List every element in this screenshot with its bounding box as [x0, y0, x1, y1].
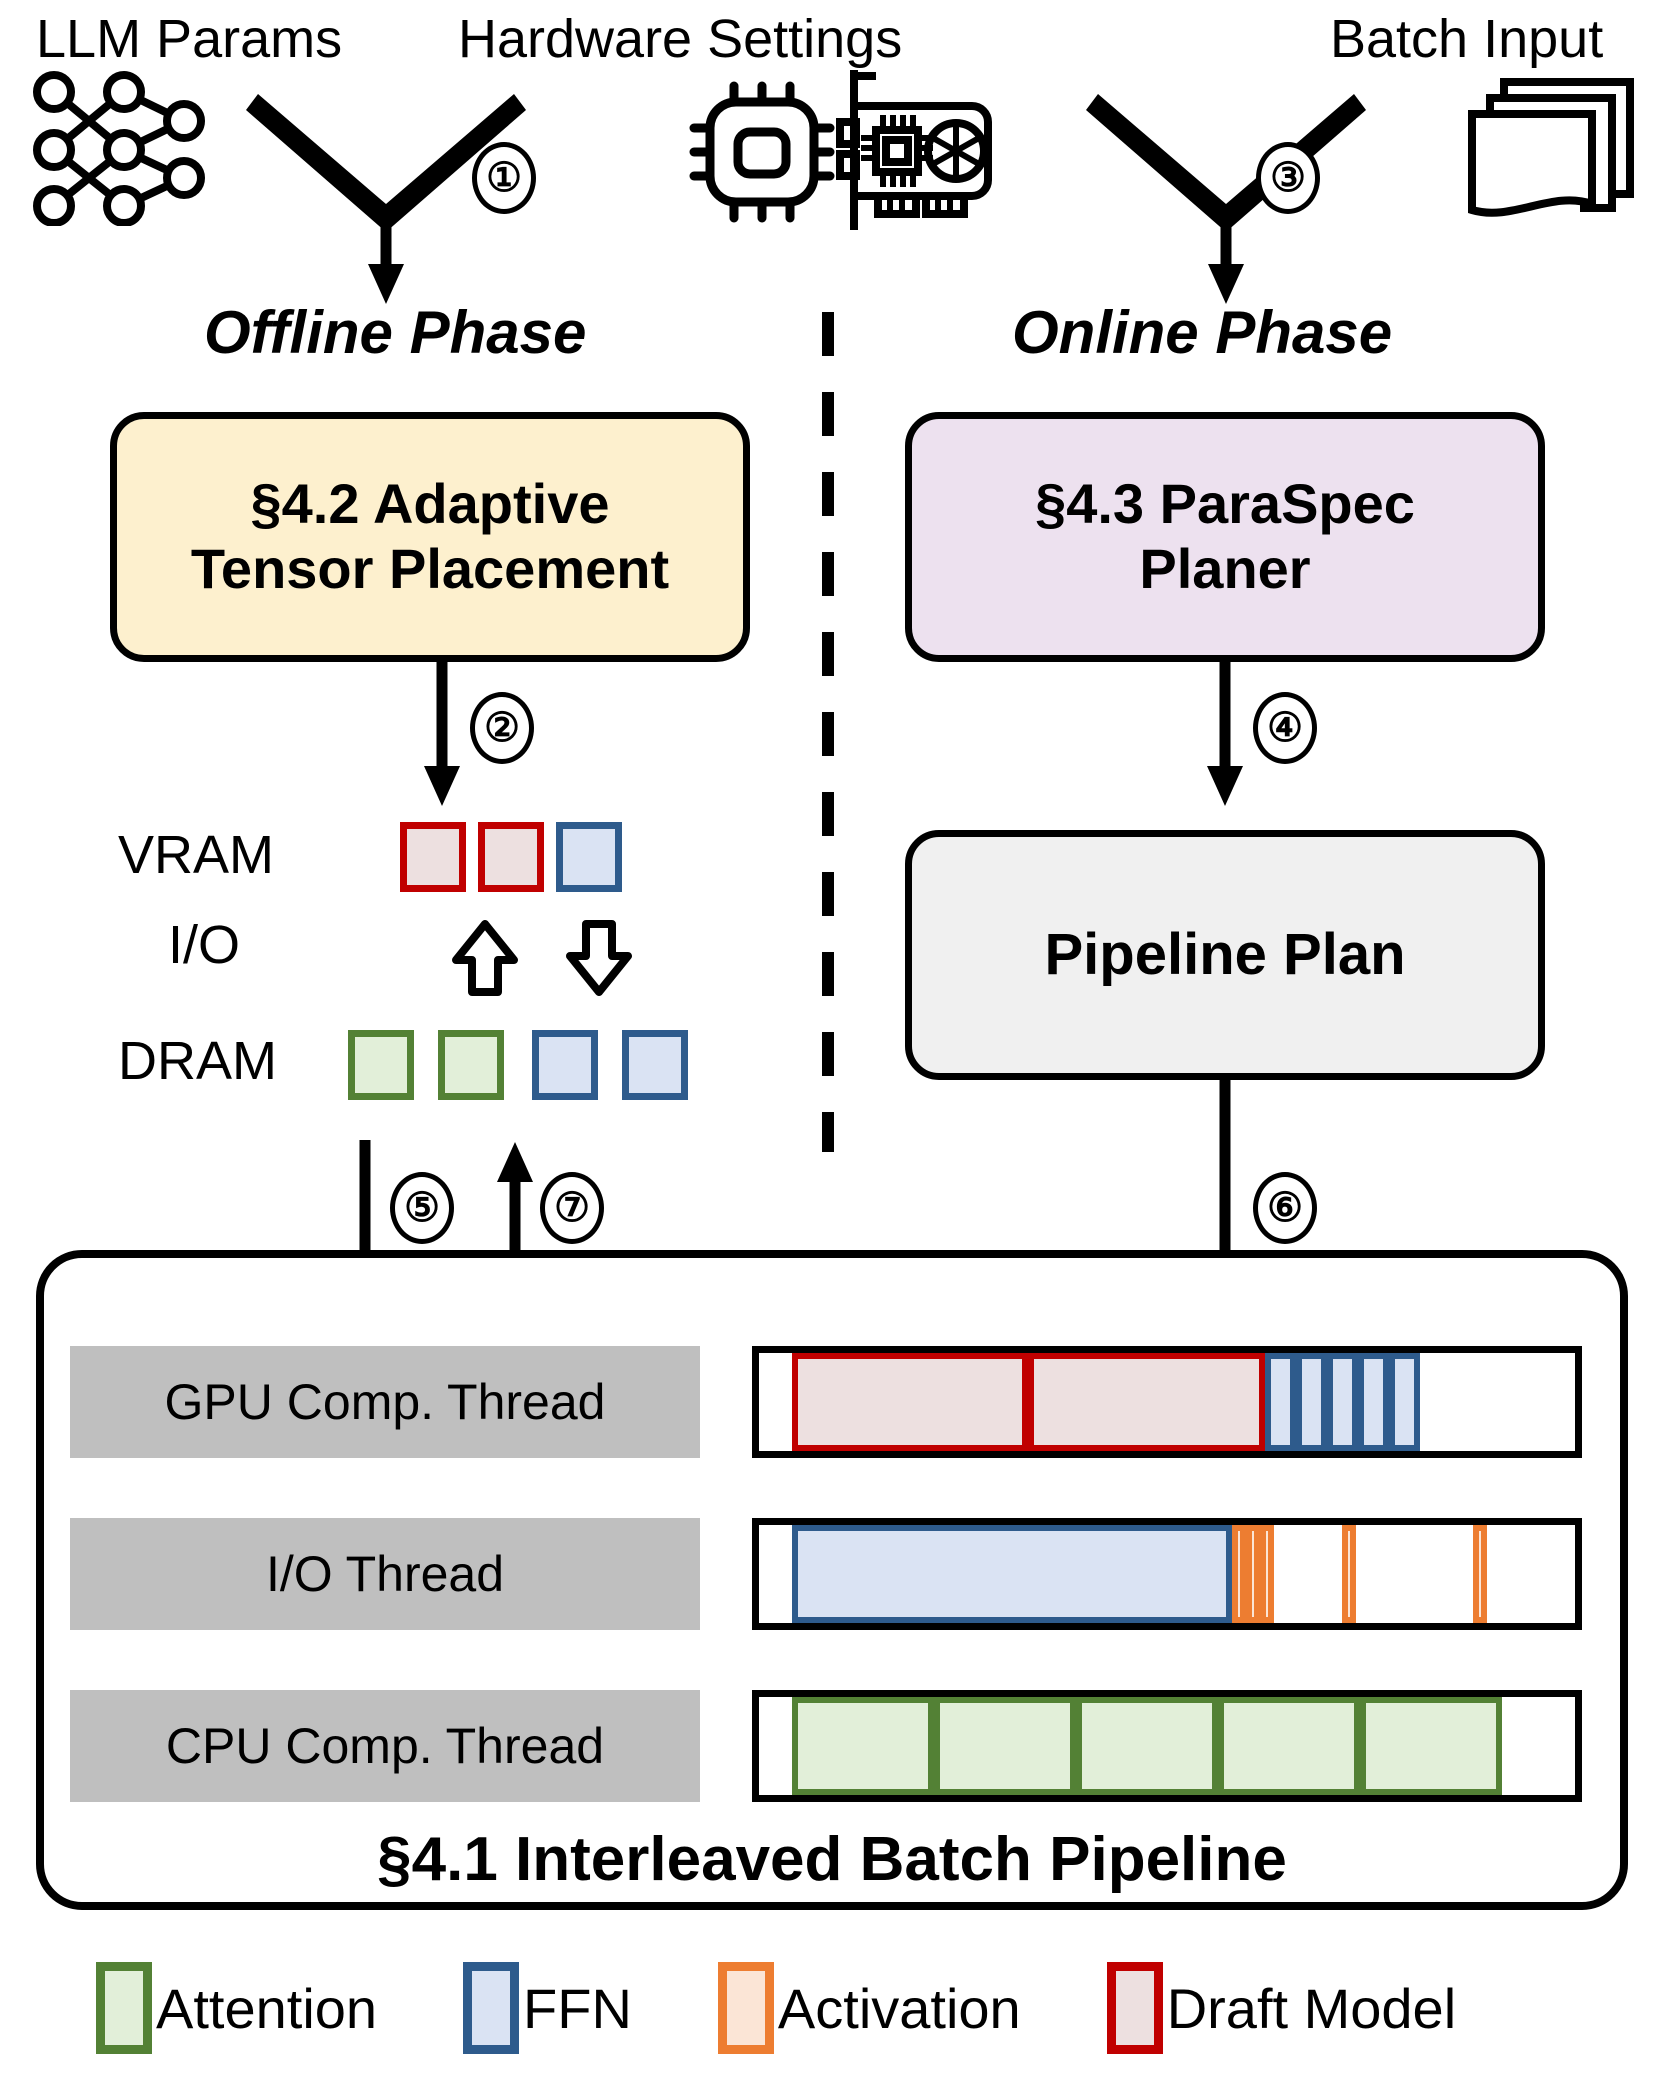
- thread-track-io: [752, 1518, 1582, 1630]
- module-pipeline-plan[interactable]: Pipeline Plan: [905, 830, 1545, 1080]
- thread-label-cpu-text: CPU Comp. Thread: [166, 1717, 604, 1775]
- segment-activation: [1473, 1525, 1487, 1623]
- source-label-hardware-settings: Hardware Settings: [458, 8, 902, 70]
- step-badge-5: ⑤: [390, 1172, 454, 1244]
- segment-attention: [792, 1697, 934, 1795]
- dram-tile-attention-2: [438, 1030, 504, 1100]
- legend-item-activation: Activation: [718, 1962, 1021, 2054]
- segment-ffn: [1327, 1353, 1358, 1451]
- step-badge-4: ④: [1253, 692, 1317, 764]
- vram-tile-draft-1: [400, 822, 466, 892]
- segment-ffn: [1389, 1353, 1420, 1451]
- step-badge-6: ⑥: [1253, 1172, 1317, 1244]
- segment-activation: [1260, 1525, 1274, 1623]
- segment-activation: [1342, 1525, 1356, 1623]
- legend-swatch-draft-model: [1107, 1962, 1163, 2054]
- legend-swatch-ffn: [463, 1962, 519, 2054]
- dram-tile-ffn-2: [622, 1030, 688, 1100]
- module-paraspec-planer-label: §4.3 ParaSpec Planer: [1035, 472, 1415, 602]
- thread-label-gpu: GPU Comp. Thread: [70, 1346, 700, 1458]
- segment-attention: [1076, 1697, 1218, 1795]
- segment-ffn: [1296, 1353, 1327, 1451]
- source-label-batch-input: Batch Input: [1330, 8, 1603, 70]
- thread-label-cpu: CPU Comp. Thread: [70, 1690, 700, 1802]
- legend-item-draft-model: Draft Model: [1107, 1962, 1456, 2054]
- arrow-step-3: [1010, 76, 1430, 306]
- step-badge-3: ③: [1256, 142, 1320, 214]
- legend-label-attention: Attention: [156, 1976, 377, 2041]
- step-badge-7: ⑦: [540, 1172, 604, 1244]
- module-adaptive-tensor-placement-label: §4.2 Adaptive Tensor Placement: [191, 472, 669, 602]
- legend-label-activation: Activation: [778, 1976, 1021, 2041]
- legend-swatch-attention: [96, 1962, 152, 2054]
- diagram-canvas: LLM Params Hardware Settings Batch Input: [0, 0, 1660, 2100]
- segment-ffn: [1265, 1353, 1296, 1451]
- legend: Attention FFN Activation Draft Model: [96, 1962, 1576, 2054]
- phase-title-online: Online Phase: [1012, 298, 1392, 367]
- pipeline-caption: §4.1 Interleaved Batch Pipeline: [44, 1824, 1620, 1895]
- thread-label-io: I/O Thread: [70, 1518, 700, 1630]
- arrow-step-2: [422, 662, 462, 808]
- segment-attention: [934, 1697, 1076, 1795]
- phase-title-offline: Offline Phase: [204, 298, 586, 367]
- module-adaptive-tensor-placement[interactable]: §4.2 Adaptive Tensor Placement: [110, 412, 750, 662]
- segment-activation: [1232, 1525, 1246, 1623]
- step-badge-2: ②: [470, 692, 534, 764]
- legend-swatch-activation: [718, 1962, 774, 2054]
- segment-attention: [1360, 1697, 1502, 1795]
- segment-draft-model: [792, 1353, 1029, 1451]
- cpu-gpu-icon: [672, 70, 1012, 230]
- arrow-step-4: [1205, 662, 1245, 808]
- io-arrow-up-icon: [452, 920, 518, 996]
- segment-ffn: [1358, 1353, 1389, 1451]
- memory-label-io: I/O: [168, 914, 240, 976]
- step-badge-1: ①: [472, 142, 536, 214]
- interleaved-batch-pipeline-panel: GPU Comp. Thread I/O Thread CPU Comp. Th…: [36, 1250, 1628, 1910]
- legend-item-attention: Attention: [96, 1962, 377, 2054]
- thread-track-gpu: [752, 1346, 1582, 1458]
- thread-label-gpu-text: GPU Comp. Thread: [165, 1373, 606, 1431]
- memory-label-dram: DRAM: [118, 1030, 277, 1092]
- segment-ffn: [792, 1525, 1233, 1623]
- legend-item-ffn: FFN: [463, 1962, 632, 2054]
- segment-draft-model: [1028, 1353, 1265, 1451]
- vram-tile-draft-2: [478, 822, 544, 892]
- io-arrow-down-icon: [566, 920, 632, 996]
- module-paraspec-planer[interactable]: §4.3 ParaSpec Planer: [905, 412, 1545, 662]
- segment-attention: [1218, 1697, 1360, 1795]
- vram-tile-ffn-1: [556, 822, 622, 892]
- legend-label-ffn: FFN: [523, 1976, 632, 2041]
- source-label-llm-params: LLM Params: [36, 8, 342, 70]
- thread-label-io-text: I/O Thread: [266, 1545, 504, 1603]
- dram-tile-attention-1: [348, 1030, 414, 1100]
- module-pipeline-plan-label: Pipeline Plan: [1045, 921, 1406, 988]
- memory-label-vram: VRAM: [118, 824, 274, 886]
- segment-activation: [1246, 1525, 1260, 1623]
- document-stack-icon: [1452, 72, 1642, 232]
- legend-label-draft-model: Draft Model: [1167, 1976, 1456, 2041]
- phase-divider: [820, 312, 836, 1152]
- thread-track-cpu: [752, 1690, 1582, 1802]
- dram-tile-ffn-1: [532, 1030, 598, 1100]
